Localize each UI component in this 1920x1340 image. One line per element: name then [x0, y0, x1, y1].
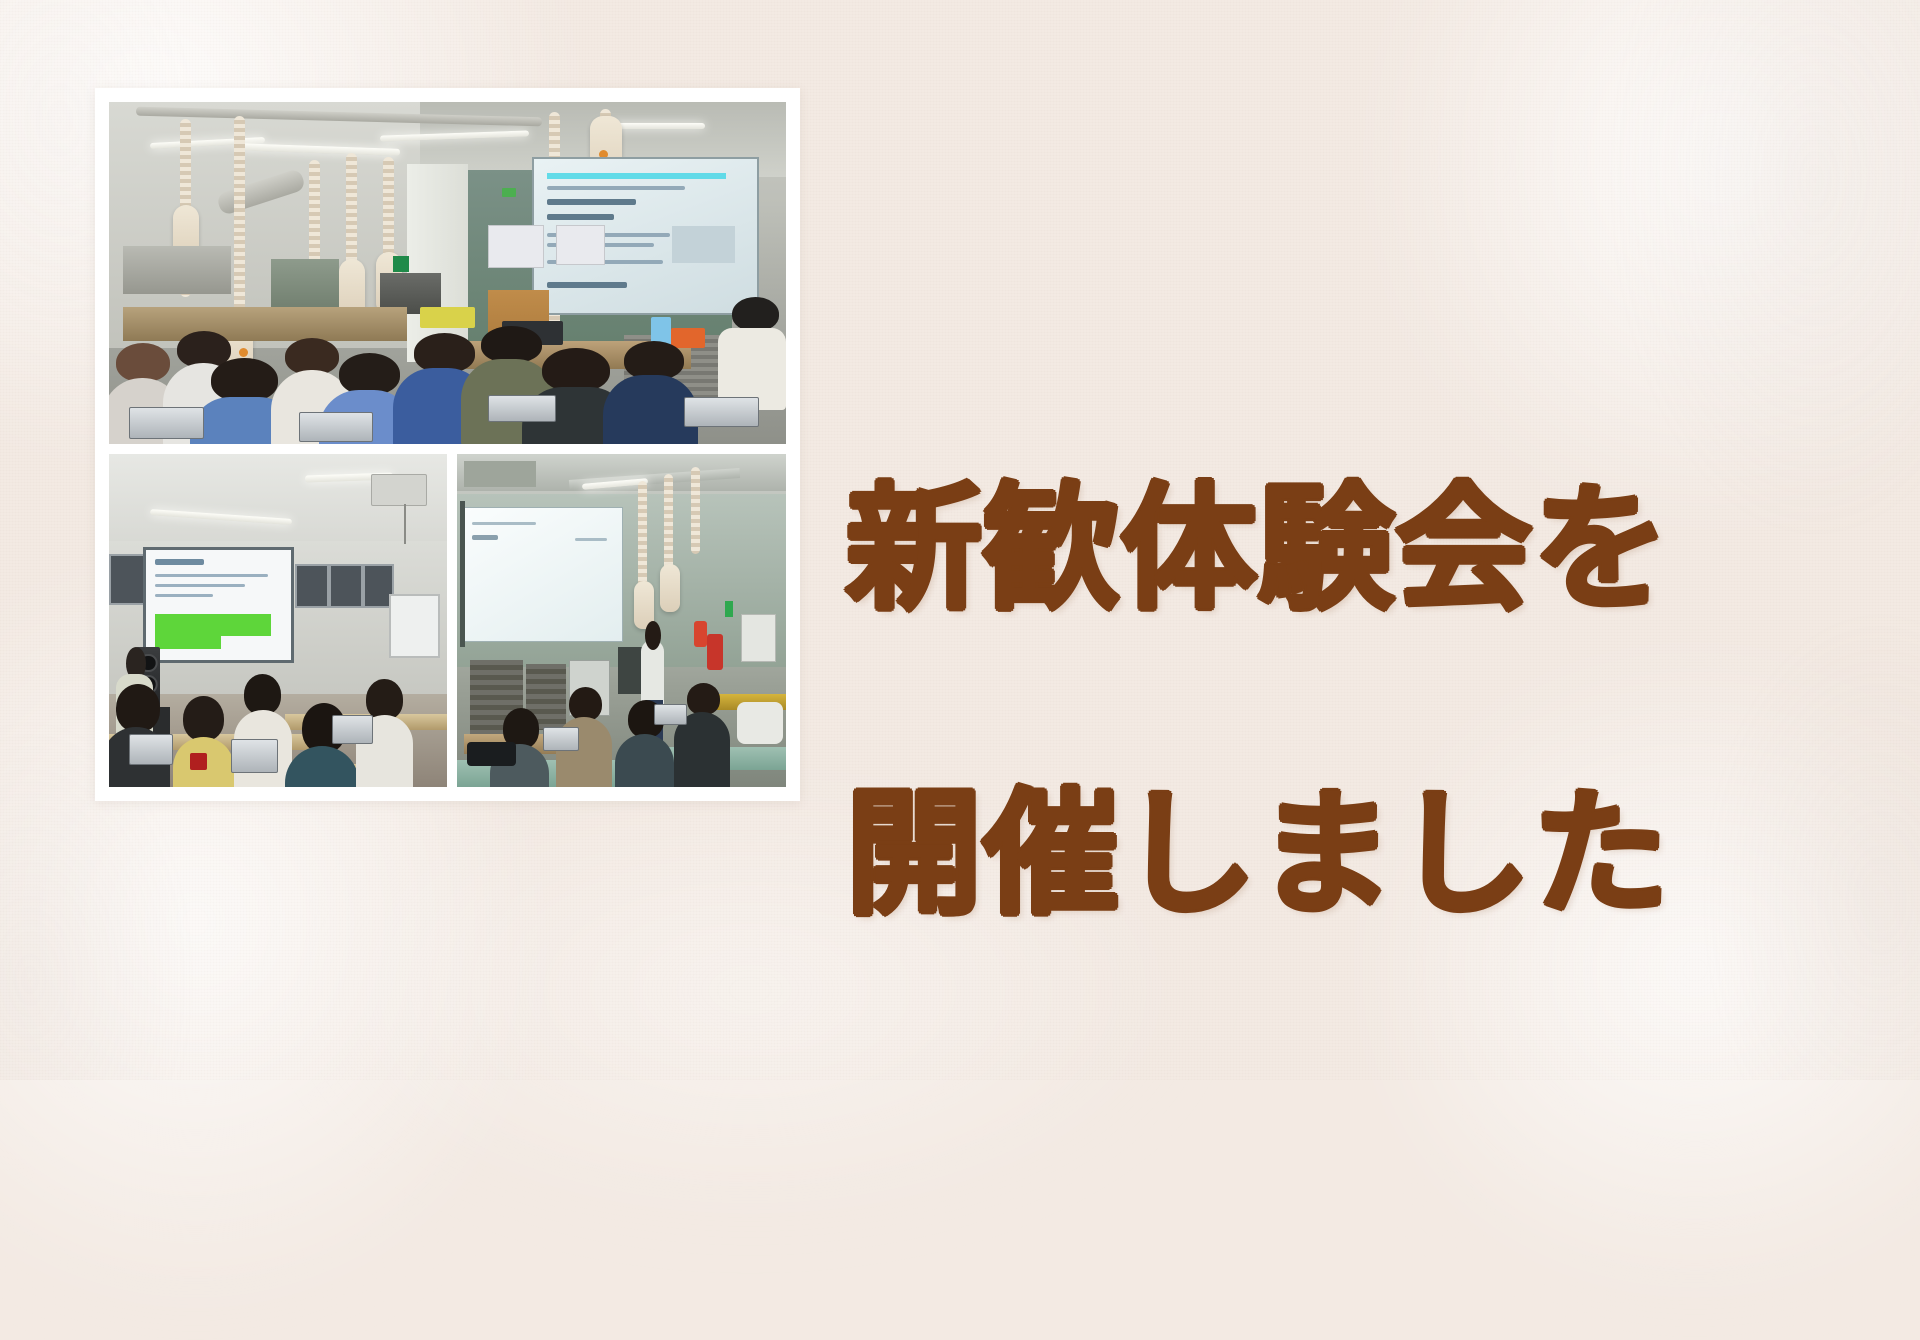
audience-row [109, 667, 447, 787]
attendee-head [183, 696, 224, 742]
attendee-head [116, 684, 160, 732]
laptop [332, 715, 373, 744]
chair-back [737, 702, 783, 745]
ceiling-projector [371, 474, 427, 506]
attendee-head [624, 341, 685, 380]
laptop-bag [467, 742, 516, 765]
slide-text-line [155, 574, 268, 577]
projector-cable [404, 504, 406, 544]
ceiling-duct [464, 461, 536, 488]
slide-green-highlight [155, 614, 271, 636]
attendee-head [366, 679, 403, 720]
red-bottle [190, 753, 207, 770]
laptop [684, 397, 758, 427]
slide-heading-line [547, 214, 614, 220]
attendee-head [542, 348, 610, 392]
hanging-power-cord [234, 116, 245, 331]
photo-bottom-left [109, 454, 447, 787]
photo-bottom-left-image [109, 454, 447, 787]
photo-bottom-right-image [457, 454, 786, 787]
slide-text-line [472, 522, 535, 525]
attendee-head [569, 687, 602, 721]
attendee-head [244, 674, 281, 715]
slide-footer-line [547, 282, 627, 288]
laptop [129, 407, 203, 439]
slide-heading-line [547, 199, 636, 205]
slide-title-line [155, 559, 204, 565]
whiteboard [389, 594, 440, 658]
red-cone [694, 621, 707, 648]
first-aid-sign [393, 256, 409, 272]
window [329, 564, 363, 608]
attendee-body [615, 734, 674, 787]
machine-tool [271, 259, 339, 314]
page-title: 新歓体験会を 開催しました [846, 322, 1856, 1084]
page-title-line-2: 開催しました [846, 779, 1856, 931]
attendee-head [687, 683, 720, 715]
fire-extinguisher [707, 634, 723, 671]
attendee-head [211, 358, 279, 402]
attendee-head [339, 353, 400, 395]
exit-sign [725, 601, 733, 618]
wall-noticeboard [741, 614, 776, 663]
attendee-head [414, 333, 475, 372]
hanging-power-cord [638, 481, 647, 594]
page-title-line-1: 新歓体験会を [846, 474, 1856, 626]
projection-screen [464, 507, 624, 642]
storage-shelf [123, 246, 231, 294]
slide-highlight-bar [547, 173, 726, 179]
slide-text-line [472, 535, 497, 540]
laptop [654, 704, 687, 725]
laptop [299, 412, 373, 442]
slide-text-line [547, 186, 686, 190]
window [295, 564, 329, 608]
attendee-head [481, 326, 542, 363]
photo-top [109, 102, 786, 444]
slide-image-block [672, 226, 735, 263]
laptop [231, 739, 278, 773]
wall-poster [556, 225, 605, 265]
laptop [129, 734, 173, 765]
photo-top-image [109, 102, 786, 444]
attendee-head [116, 343, 170, 382]
attendee-body [285, 746, 359, 787]
audience-row [457, 680, 786, 787]
hanging-cord-reel [660, 564, 680, 612]
slide-text-line [575, 538, 607, 541]
slide-green-highlight [155, 636, 222, 649]
photo-bottom-right [457, 454, 786, 787]
laptop [543, 727, 579, 750]
wall-poster [488, 225, 544, 268]
laptop [488, 395, 556, 422]
slide-text-line [155, 584, 245, 587]
hanging-power-cord [664, 474, 673, 574]
screen-frame-edge [460, 501, 465, 648]
projection-screen [143, 547, 294, 663]
hanging-power-cord [691, 467, 700, 554]
presenter-head [645, 621, 661, 651]
exit-sign [502, 188, 516, 197]
slide-text-line [155, 594, 213, 597]
audience-row [109, 321, 786, 444]
photo-collage [95, 88, 800, 801]
